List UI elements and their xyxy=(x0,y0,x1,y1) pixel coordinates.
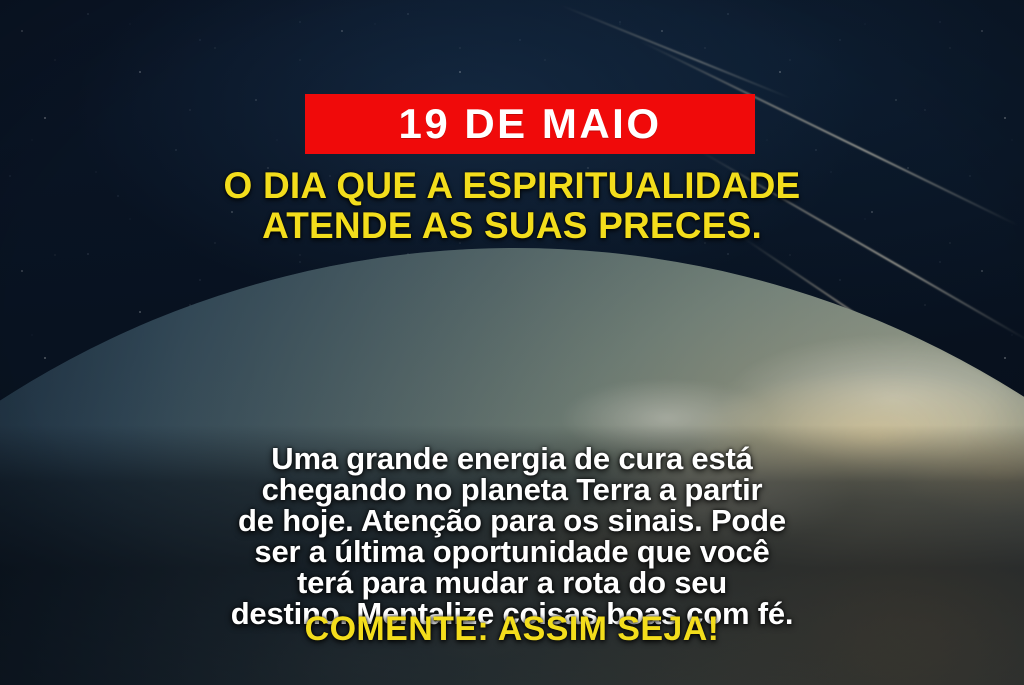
headline-line-1: O DIA QUE A ESPIRITUALIDADE xyxy=(224,165,801,206)
date-banner-label: 19 DE MAIO xyxy=(398,103,661,145)
body-copy: Uma grande energia de cura está chegando… xyxy=(52,443,972,629)
body-copy-line: chegando no planeta Terra a partir xyxy=(52,474,972,505)
date-banner: 19 DE MAIO xyxy=(305,94,755,154)
body-copy-line: Uma grande energia de cura está xyxy=(52,443,972,474)
spiritual-message-poster: 19 DE MAIO O DIA QUE A ESPIRITUALIDADE A… xyxy=(0,0,1024,685)
headline-line-2: ATENDE AS SUAS PRECES. xyxy=(0,206,1024,246)
body-copy-line: terá para mudar a rota do seu xyxy=(52,567,972,598)
poster-content: 19 DE MAIO O DIA QUE A ESPIRITUALIDADE A… xyxy=(0,0,1024,685)
headline: O DIA QUE A ESPIRITUALIDADE ATENDE AS SU… xyxy=(0,166,1024,246)
call-to-action-label: COMENTE: ASSIM SEJA! xyxy=(305,610,720,648)
call-to-action: COMENTE: ASSIM SEJA! xyxy=(0,612,1024,646)
body-copy-line: ser a última oportunidade que você xyxy=(52,536,972,567)
body-copy-line: de hoje. Atenção para os sinais. Pode xyxy=(52,505,972,536)
